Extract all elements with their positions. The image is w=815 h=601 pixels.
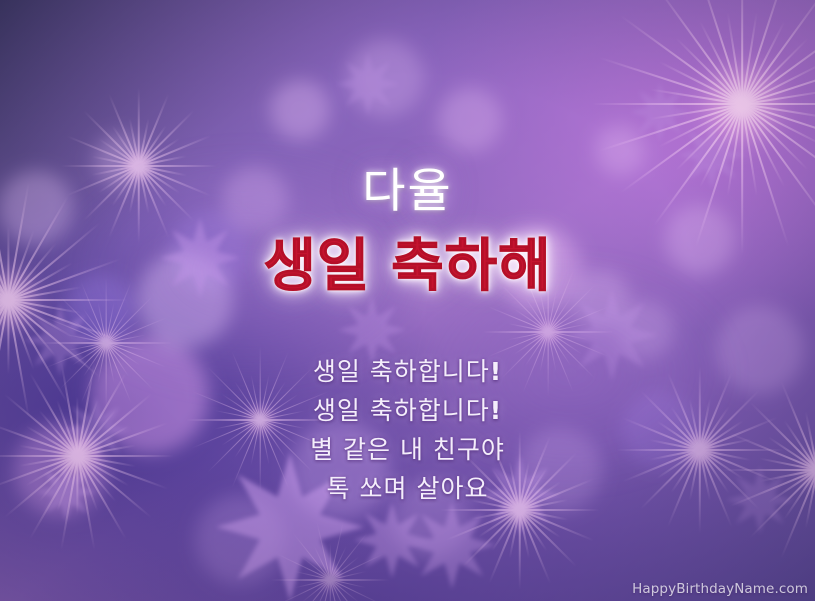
message-block: 생일 축하합니다!생일 축하합니다!별 같은 내 친구야톡 쏘며 살아요: [0, 352, 815, 508]
exclamation-mark: !: [490, 357, 502, 386]
recipient-name: 다율: [0, 168, 815, 215]
message-line-text: 생일 축하합니다: [313, 357, 490, 386]
message-line-text: 별 같은 내 친구야: [310, 435, 505, 464]
site-watermark: HappyBirthdayName.com: [632, 580, 808, 598]
birthday-card: 다율 생일 축하해 생일 축하합니다!생일 축하합니다!별 같은 내 친구야톡 …: [0, 0, 815, 601]
message-line-text: 생일 축하합니다: [313, 396, 490, 425]
greeting-headline: 생일 축하해: [0, 237, 815, 295]
card-content: 다율 생일 축하해 생일 축하합니다!생일 축하합니다!별 같은 내 친구야톡 …: [0, 0, 815, 601]
message-line: 생일 축하합니다!: [0, 391, 815, 430]
exclamation-mark: !: [490, 396, 502, 425]
message-line: 생일 축하합니다!: [0, 352, 815, 391]
message-line: 별 같은 내 친구야: [0, 430, 815, 469]
message-line-text: 톡 쏘며 살아요: [327, 474, 489, 503]
message-line: 톡 쏘며 살아요: [0, 469, 815, 508]
